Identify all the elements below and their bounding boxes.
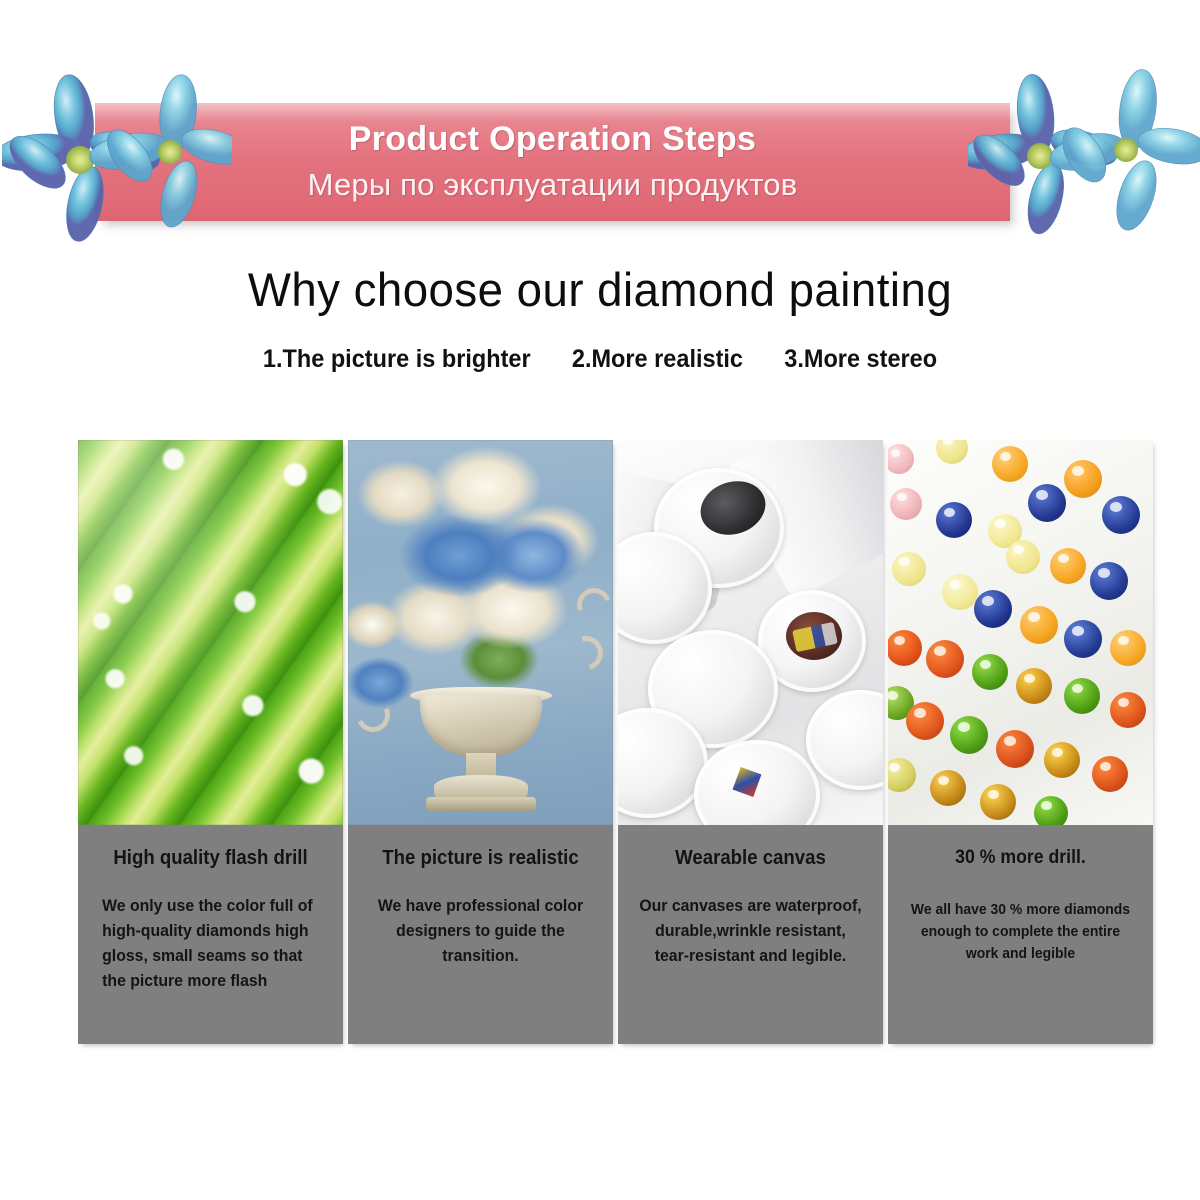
feature-panel: Wearable canvas Our canvases are waterpr… [618,440,883,1044]
benefits-list: 1.The picture is brighter 2.More realist… [36,345,1164,374]
banner-subtitle: Меры по эксплуатации продуктов [95,167,1010,203]
feature-panel: The picture is realistic We have profess… [348,440,613,1044]
infographic-page: Product Operation Steps Меры по эксплуат… [0,0,1200,1200]
page-title: Why choose our diamond painting [18,262,1182,317]
panel-title: Wearable canvas [627,847,873,870]
panel-caption: High quality flash drill We only use the… [78,825,343,1044]
panel-title: The picture is realistic [357,847,603,870]
rolled-canvas-photo [618,440,883,825]
benefit-item-2: 2.More realistic [572,345,743,374]
panel-caption: The picture is realistic We have profess… [348,825,613,1044]
feature-panel: 30 % more drill. We all have 30 % more d… [888,440,1153,1044]
panel-title: 30 % more drill. [897,847,1143,869]
green-diamond-drills-photo [78,440,343,825]
urn-shape [406,671,556,821]
benefit-item-1: 1.The picture is brighter [263,345,531,374]
feature-panel: High quality flash drill We only use the… [78,440,343,1044]
feature-panels: High quality flash drill We only use the… [0,440,1200,1044]
header-banner: Product Operation Steps Меры по эксплуат… [0,60,1200,245]
floral-painting-photo [348,440,613,825]
banner-title: Product Operation Steps [95,120,1010,159]
panel-caption: Wearable canvas Our canvases are waterpr… [618,825,883,1044]
panel-title: High quality flash drill [87,847,333,870]
panel-caption: 30 % more drill. We all have 30 % more d… [888,825,1153,1044]
panel-body: We only use the color full of high-quali… [97,893,325,993]
panel-body: We all have 30 % more diamonds enough to… [907,899,1135,965]
panel-body: We have professional color designers to … [367,893,595,968]
benefit-item-3: 3.More stereo [784,345,937,374]
panel-body: Our canvases are waterproof, durable,wri… [637,893,865,968]
colored-rhinestones-photo [888,440,1153,825]
